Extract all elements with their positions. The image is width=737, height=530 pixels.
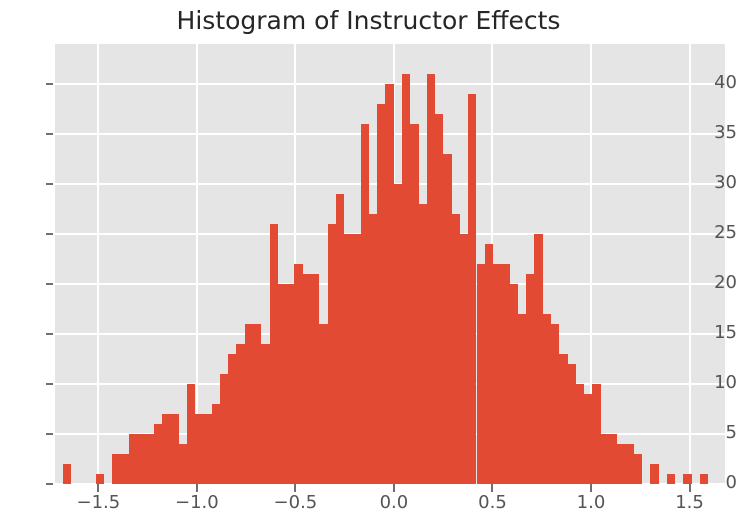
y-tick-label: 30	[703, 172, 737, 193]
histogram-bar	[253, 324, 261, 484]
histogram-bar	[328, 224, 336, 484]
histogram-bar	[311, 274, 319, 484]
histogram-bar	[625, 444, 633, 484]
histogram-bar	[667, 474, 675, 484]
y-tick-mark	[46, 333, 53, 335]
x-tick-label: −0.5	[260, 492, 330, 513]
histogram-bar	[319, 324, 327, 484]
histogram-bar	[121, 454, 129, 484]
histogram-bar	[278, 284, 286, 484]
chart-title: Histogram of Instructor Effects	[0, 6, 737, 35]
plot-area	[55, 44, 725, 484]
histogram-bar	[377, 104, 385, 484]
histogram-bar	[650, 464, 658, 484]
histogram-bar	[162, 414, 170, 484]
histogram-bar	[394, 184, 402, 484]
y-tick-mark	[46, 133, 53, 135]
histogram-bar	[427, 74, 435, 484]
x-tick-mark	[590, 484, 592, 492]
histogram-bar	[683, 474, 691, 484]
histogram-bar	[419, 204, 427, 484]
histogram-bar	[361, 124, 369, 484]
histogram-bar	[170, 414, 178, 484]
chart-figure: Histogram of Instructor Effects 05101520…	[0, 0, 737, 530]
histogram-bar	[510, 284, 518, 484]
histogram-bar	[63, 464, 71, 484]
histogram-bar	[568, 364, 576, 484]
y-tick-label: 20	[703, 272, 737, 293]
y-tick-label: 5	[703, 422, 737, 443]
histogram-bar	[294, 264, 302, 484]
histogram-bar	[270, 224, 278, 484]
histogram-bar	[584, 394, 592, 484]
y-tick-mark	[46, 433, 53, 435]
histogram-bar	[129, 434, 137, 484]
y-tick-label: 35	[703, 122, 737, 143]
histogram-bar	[518, 314, 526, 484]
y-tick-label: 10	[703, 372, 737, 393]
histogram-bar	[286, 284, 294, 484]
histogram-bar	[534, 234, 542, 484]
x-tick-label: 0.0	[359, 492, 429, 513]
histogram-bar	[477, 264, 485, 484]
histogram-bar	[220, 374, 228, 484]
y-tick-label: 40	[703, 72, 737, 93]
histogram-bar	[179, 444, 187, 484]
histogram-bar	[559, 354, 567, 484]
y-tick-mark	[46, 233, 53, 235]
histogram-bar	[543, 314, 551, 484]
histogram-bars	[55, 44, 725, 484]
histogram-bar	[385, 84, 393, 484]
x-tick-label: −1.5	[63, 492, 133, 513]
histogram-bar	[592, 384, 600, 484]
histogram-bar	[369, 214, 377, 484]
histogram-bar	[195, 414, 203, 484]
histogram-bar	[443, 154, 451, 484]
histogram-bar	[228, 354, 236, 484]
histogram-bar	[344, 234, 352, 484]
histogram-bar	[336, 194, 344, 484]
histogram-bar	[245, 324, 253, 484]
histogram-bar	[468, 94, 476, 484]
histogram-bar	[601, 434, 609, 484]
histogram-bar	[460, 234, 468, 484]
x-tick-label: 1.0	[556, 492, 626, 513]
histogram-bar	[236, 344, 244, 484]
histogram-bar	[187, 384, 195, 484]
histogram-bar	[203, 414, 211, 484]
histogram-bar	[609, 434, 617, 484]
x-tick-label: −1.0	[162, 492, 232, 513]
x-tick-mark	[294, 484, 296, 492]
y-tick-label: 0	[703, 472, 737, 493]
y-tick-mark	[46, 283, 53, 285]
histogram-bar	[526, 274, 534, 484]
histogram-bar	[493, 264, 501, 484]
x-tick-label: 1.5	[655, 492, 725, 513]
y-tick-label: 25	[703, 222, 737, 243]
histogram-bar	[551, 324, 559, 484]
y-tick-label: 15	[703, 322, 737, 343]
histogram-bar	[137, 434, 145, 484]
y-tick-mark	[46, 483, 53, 485]
histogram-bar	[501, 264, 509, 484]
x-tick-mark	[393, 484, 395, 492]
x-tick-mark	[491, 484, 493, 492]
histogram-bar	[154, 424, 162, 484]
histogram-bar	[435, 114, 443, 484]
histogram-bar	[485, 244, 493, 484]
histogram-bar	[617, 444, 625, 484]
histogram-bar	[576, 384, 584, 484]
y-tick-mark	[46, 383, 53, 385]
histogram-bar	[452, 214, 460, 484]
x-tick-label: 0.5	[457, 492, 527, 513]
x-tick-mark	[196, 484, 198, 492]
y-tick-mark	[46, 183, 53, 185]
y-tick-mark	[46, 83, 53, 85]
x-tick-mark	[97, 484, 99, 492]
histogram-bar	[303, 274, 311, 484]
histogram-bar	[634, 454, 642, 484]
histogram-bar	[112, 454, 120, 484]
histogram-bar	[402, 74, 410, 484]
histogram-bar	[352, 234, 360, 484]
histogram-bar	[145, 434, 153, 484]
histogram-bar	[410, 124, 418, 484]
histogram-bar	[212, 404, 220, 484]
histogram-bar	[96, 474, 104, 484]
x-tick-mark	[689, 484, 691, 492]
histogram-bar	[261, 344, 269, 484]
